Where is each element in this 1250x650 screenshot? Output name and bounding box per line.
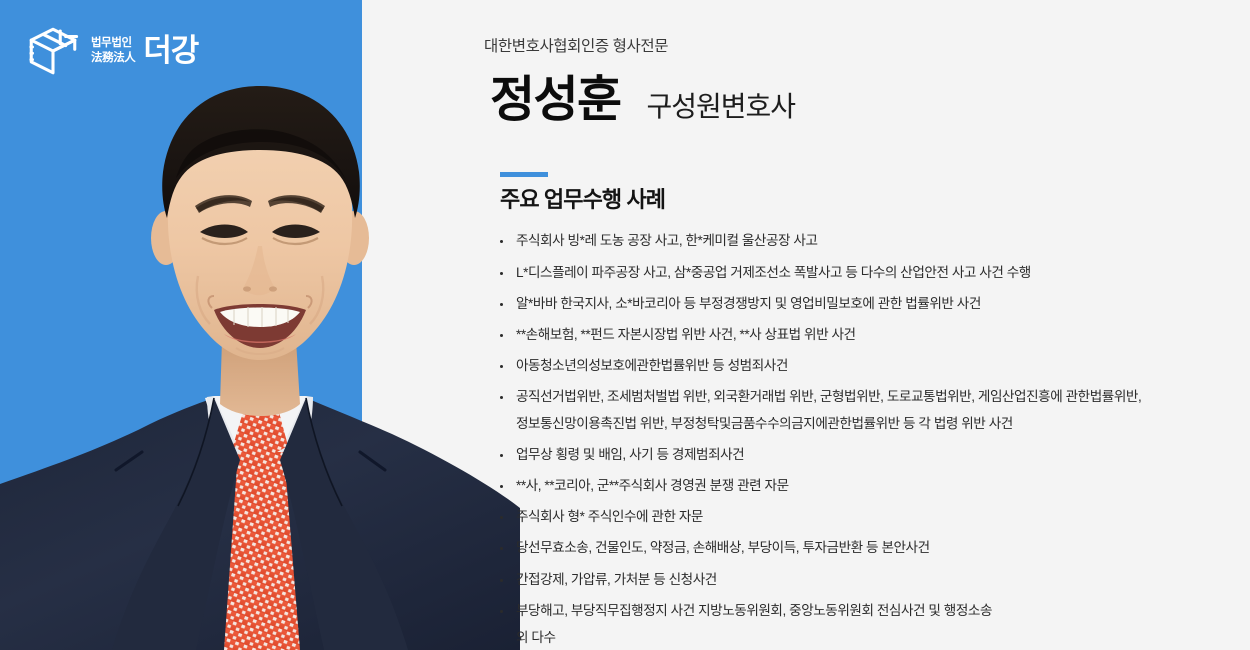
profile-content: 대한변호사협회인증 형사전문 정성훈 구성원변호사 주요 업무수행 사례 주식회…	[484, 0, 1250, 650]
case-item: 알*바바 한국지사, 소*바코리아 등 부정경쟁방지 및 영업비밀보호에 관한 …	[498, 294, 1250, 314]
firm-logo[interactable]: 법무법인 法務法人 더강	[24, 22, 198, 80]
certification-label: 대한변호사협회인증 형사전문	[484, 38, 1250, 57]
logo-korean-lines: 법무법인 法務法人	[91, 36, 135, 66]
name-row: 정성훈 구성원변호사	[490, 75, 1250, 126]
case-item: 외 다수	[498, 628, 1250, 648]
case-item: 부당해고, 부당직무집행정지 사건 지방노동위원회, 중앙노동위원회 전심사건 …	[498, 601, 1250, 621]
logo-brand-name: 더강	[143, 35, 198, 66]
case-item: 업무상 횡령 및 배임, 사기 등 경제범죄사건	[498, 445, 1250, 465]
section-accent-bar	[500, 172, 548, 177]
case-item: **사, **코리아, 군**주식회사 경영권 분쟁 관련 자문	[498, 476, 1250, 496]
attorney-name: 정성훈	[490, 75, 620, 126]
case-item: 간접강제, 가압류, 가처분 등 신청사건	[498, 570, 1250, 590]
logo-line-2: 法務法人	[91, 51, 135, 66]
isometric-box-logo-icon	[24, 22, 82, 80]
case-item: 주식회사 형* 주식인수에 관한 자문	[498, 507, 1250, 527]
logo-text: 법무법인 法務法人 더강	[91, 35, 198, 68]
case-item: **손해보험, **펀드 자본시장법 위반 사건, **사 상표법 위반 사건	[498, 325, 1250, 345]
attorney-role: 구성원변호사	[646, 92, 795, 121]
case-list: 주식회사 빙*레 도농 공장 사고, 한*케미컬 울산공장 사고L*디스플레이 …	[498, 231, 1250, 647]
section-title: 주요 업무수행 사례	[500, 187, 1250, 213]
case-item: 정보통신망이용촉진법 위반, 부정청탁및금품수수의금지에관한법률위반 등 각 법…	[498, 414, 1250, 434]
case-item: 주식회사 빙*레 도농 공장 사고, 한*케미컬 울산공장 사고	[498, 231, 1250, 251]
left-blue-panel	[0, 0, 362, 650]
logo-line-1: 법무법인	[91, 36, 135, 51]
case-item: 당선무효소송, 건물인도, 약정금, 손해배상, 부당이득, 투자금반환 등 본…	[498, 538, 1250, 558]
case-item: L*디스플레이 파주공장 사고, 삼*중공업 거제조선소 폭발사고 등 다수의 …	[498, 263, 1250, 283]
case-item: 공직선거법위반, 조세범처벌법 위반, 외국환거래법 위반, 군형법위반, 도로…	[498, 387, 1250, 407]
case-item: 아동청소년의성보호에관한법률위반 등 성범죄사건	[498, 356, 1250, 376]
